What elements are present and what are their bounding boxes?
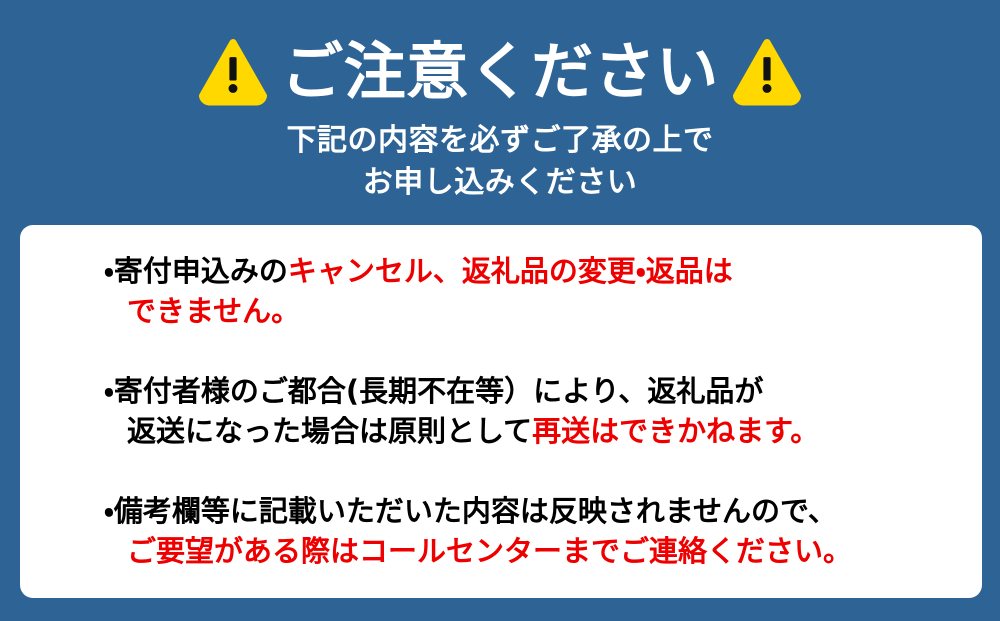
title-row: ご注意ください	[0, 33, 1000, 111]
notice-line: ご要望がある際はコールセンターまでご連絡ください。	[104, 531, 962, 571]
banner-header: ご注意ください 下記の内容を必ずご了承の上で お申し込みください	[0, 0, 1000, 225]
notice-item: ・寄付者様のご都合(長期不在等）により、返礼品が返送になった場合は原則として再送…	[104, 371, 962, 451]
notice-text: ・寄付申込みの	[104, 254, 288, 288]
notice-text: 返送になった場合は原則として	[127, 414, 532, 448]
warning-triangle-icon-left	[199, 38, 267, 106]
notice-item: ・備考欄等に記載いただいた内容は反映されませんので、ご要望がある際はコールセンタ…	[104, 491, 962, 571]
notice-banner: ご注意ください 下記の内容を必ずご了承の上で お申し込みください ・寄付申込みの…	[0, 0, 1000, 621]
notice-text-alert: 再送はできかねます。	[532, 414, 819, 448]
warning-triangle-icon-right	[733, 38, 801, 106]
notice-line: できません。	[104, 291, 962, 331]
notice-line: ・寄付申込みのキャンセル、返礼品の変更・返品は	[104, 251, 962, 291]
banner-subtitle: 下記の内容を必ずご了承の上で お申し込みください	[0, 120, 1000, 204]
notice-text-alert: できません。	[127, 294, 300, 328]
page-title: ご注意ください	[281, 38, 719, 106]
banner-subtitle-line-1: 下記の内容を必ずご了承の上で	[0, 120, 1000, 162]
notice-line: ・寄付者様のご都合(長期不在等）により、返礼品が	[104, 371, 962, 411]
notice-item: ・寄付申込みのキャンセル、返礼品の変更・返品はできません。	[104, 251, 962, 331]
notice-text-alert: キャンセル、返礼品の変更・返品は	[288, 254, 733, 288]
notice-text: ・備考欄等に記載いただいた内容は反映されませんので、	[104, 494, 837, 528]
notice-text: ・寄付者様のご都合(長期不在等）により、返礼品が	[104, 374, 763, 408]
notice-line: 返送になった場合は原則として再送はできかねます。	[104, 411, 962, 451]
notice-list: ・寄付申込みのキャンセル、返礼品の変更・返品はできません。・寄付者様のご都合(長…	[104, 251, 962, 571]
notice-line: ・備考欄等に記載いただいた内容は反映されませんので、	[104, 491, 962, 531]
notice-text-alert: ご要望がある際はコールセンターまでご連絡ください。	[127, 534, 852, 568]
banner-subtitle-line-2: お申し込みください	[0, 162, 1000, 204]
notice-card: ・寄付申込みのキャンセル、返礼品の変更・返品はできません。・寄付者様のご都合(長…	[20, 225, 982, 598]
